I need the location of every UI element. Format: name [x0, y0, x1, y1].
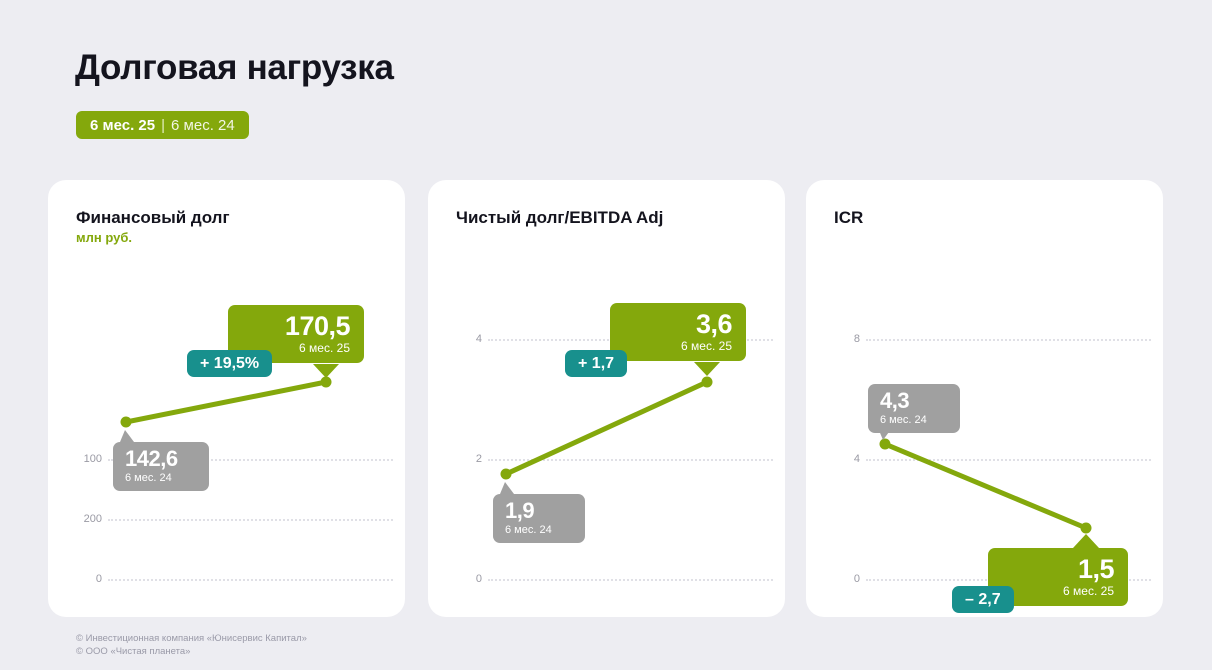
footer-line-2: © ООО «Чистая планета»	[76, 645, 307, 658]
period-previous: 6 мес. 24	[505, 523, 571, 537]
delta-badge: – 2,7	[952, 586, 1014, 613]
line-series	[48, 180, 405, 617]
chart-plot-area: 200 100 0	[48, 180, 405, 617]
metric-card-financial-debt: Финансовый долг млн руб. 200 100 0 170,5…	[48, 180, 405, 617]
period-previous: 6 мес. 24	[880, 413, 946, 427]
period-badge-current: 6 мес. 25	[90, 117, 155, 134]
value-label-previous: 142,6 6 мес. 24	[113, 442, 209, 491]
value-label-current: 3,6 6 мес. 25	[610, 303, 746, 361]
page-title: Долговая нагрузка	[75, 48, 394, 88]
footer-copyright: © Инвестиционная компания «Юнисервис Кап…	[76, 632, 307, 658]
metric-card-icr: ICR 8 4 0 4,3 6 мес. 24 1,5 6 мес. 25	[806, 180, 1163, 617]
period-badge[interactable]: 6 мес. 25 | 6 мес. 24	[76, 111, 249, 139]
label-pointer-icon	[313, 364, 339, 378]
period-current: 6 мес. 25	[624, 339, 732, 353]
value-previous: 4,3	[880, 389, 946, 412]
label-pointer-icon	[1073, 534, 1099, 548]
footer-line-1: © Инвестиционная компания «Юнисервис Кап…	[76, 632, 307, 645]
value-current: 3,6	[624, 310, 732, 338]
label-pointer-icon	[500, 482, 514, 494]
metric-card-net-debt-ebitda: Чистый долг/EBITDA Adj 4 2 0 3,6 6 мес. …	[428, 180, 785, 617]
period-badge-previous: 6 мес. 24	[171, 117, 235, 134]
value-current: 1,5	[1002, 555, 1114, 583]
chart-plot-area: 4 2 0	[428, 180, 785, 617]
value-previous: 142,6	[125, 447, 195, 470]
delta-badge: + 19,5%	[187, 350, 272, 377]
value-label-previous: 4,3 6 мес. 24	[868, 384, 960, 433]
label-pointer-icon	[694, 362, 720, 376]
period-previous: 6 мес. 24	[125, 471, 195, 485]
cards-container: Финансовый долг млн руб. 200 100 0 170,5…	[48, 180, 1166, 617]
period-badge-separator: |	[161, 117, 165, 134]
label-pointer-icon	[878, 428, 892, 440]
value-current: 170,5	[242, 312, 350, 340]
period-current: 6 мес. 25	[1002, 584, 1114, 598]
line-series	[428, 180, 785, 617]
value-previous: 1,9	[505, 499, 571, 522]
delta-badge: + 1,7	[565, 350, 627, 377]
value-label-previous: 1,9 6 мес. 24	[493, 494, 585, 543]
label-pointer-icon	[120, 430, 134, 442]
